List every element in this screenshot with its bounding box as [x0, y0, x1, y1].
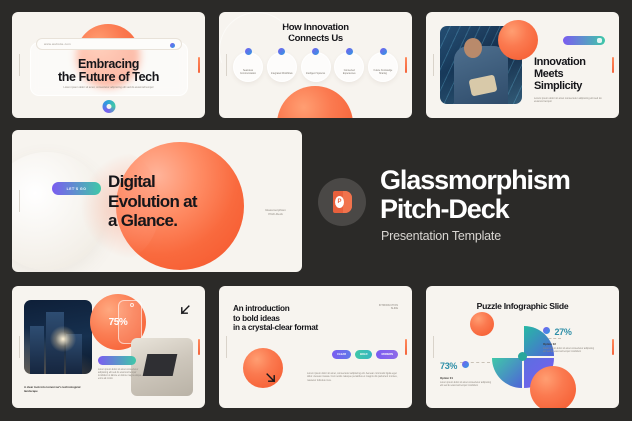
- puzzle-piece-bottom-left: [492, 358, 522, 388]
- slide-title-line1: Embracing: [78, 57, 139, 71]
- slide-edge-marker: [405, 339, 407, 355]
- slide-digital-evolution-at-a-glance[interactable]: LET'S GO Digital Evolution at a Glance. …: [12, 130, 302, 272]
- photo-office-laptop: [131, 338, 193, 396]
- tag-pill[interactable]: BOLD: [355, 350, 372, 359]
- node-dot-icon: [312, 48, 319, 55]
- tag-list: CLEAR BOLD MODERN: [332, 350, 398, 359]
- slide-innovation-meets-simplicity[interactable]: Innovation Meets Simplicity Lorem ipsum …: [426, 12, 619, 118]
- puzzle-knob: [518, 352, 527, 361]
- body-text: Lorem ipsum dolor sit amet, consectetur …: [307, 372, 398, 382]
- slide-title-line1: Digital: [108, 172, 155, 191]
- slide-kicker: INTRODUCTION SLIDE: [379, 304, 398, 311]
- slide-edge-marker: [198, 57, 200, 73]
- slide-edge-marker: [198, 339, 200, 355]
- slide-title: Embracing the Future of Tech: [12, 58, 205, 84]
- product-title-line1: Glassmorphism: [380, 165, 570, 195]
- stat-value: 73%: [440, 361, 457, 371]
- slide-corner-caption: Glassmorphism Pitch-Deck: [265, 208, 286, 216]
- slide-title: An introduction to bold ideas in a cryst…: [233, 304, 318, 333]
- slide-title-line2: Meets: [534, 68, 563, 80]
- product-tagline: Presentation Template: [381, 229, 501, 243]
- search-input[interactable]: www.website.com: [36, 38, 182, 50]
- photo-laptop: [143, 354, 178, 376]
- photo-building: [30, 326, 44, 374]
- product-title: Glassmorphism Pitch-Deck: [380, 166, 570, 224]
- slide-edge-line: [226, 54, 227, 76]
- node-dot-icon: [380, 48, 387, 55]
- tag-label: CLEAR: [337, 353, 346, 356]
- node-dot-icon: [346, 48, 353, 55]
- node-item[interactable]: Intelligent Systems: [301, 52, 331, 82]
- tag-label: MODERN: [381, 353, 393, 356]
- slide-edge-line: [433, 336, 434, 358]
- tag-pill[interactable]: MODERN: [376, 350, 398, 359]
- photo-city-buildings: [24, 300, 92, 374]
- gradient-circle-button[interactable]: [102, 100, 115, 113]
- slide-title-line2: to bold ideas: [233, 314, 280, 323]
- arrow-down-right-icon: [265, 372, 278, 385]
- node-label: Intelligent Systems: [303, 73, 328, 76]
- slide-edge-marker: [612, 57, 614, 73]
- slide-subtitle: Lorem ipsum dolor sit amet, consectetur …: [52, 86, 165, 90]
- stat-marker-icon: [543, 327, 550, 334]
- photo-caption: A clear look into tomorrow's technologic…: [24, 386, 92, 394]
- slide-title-line2: Connects Us: [288, 33, 343, 44]
- powerpoint-icon: P: [318, 178, 366, 226]
- stat-marker-icon: [130, 303, 134, 307]
- corner-caption-line2: Pitch-Deck: [265, 212, 286, 216]
- lets-go-badge[interactable]: LET'S GO: [52, 182, 101, 195]
- photo-person-head: [464, 38, 482, 58]
- stat-block: 73% Option 01 Lorem ipsum dolor sit amet…: [440, 356, 492, 388]
- slide-title-line2: Evolution at: [108, 192, 197, 211]
- slide-subtitle: Lorem ipsum dolor sit amet consectetur a…: [534, 97, 605, 104]
- slide-stat-75-percent[interactable]: 75% Lorem ipsum dolor sit amet consectet…: [12, 286, 205, 408]
- stat-block: 27% Option 02 Lorem ipsum dolor sit amet…: [543, 322, 605, 354]
- search-placeholder: www.website.com: [44, 42, 71, 46]
- slide-edge-line: [19, 54, 20, 76]
- slide-kicker-line2: SLIDE: [379, 307, 398, 310]
- node-item[interactable]: Connected Experiences: [334, 52, 364, 82]
- stat-description: Lorem ipsum dolor sit amet consectetur a…: [543, 348, 595, 354]
- stat-value: 27%: [554, 327, 571, 337]
- slide-title-line2: the Future of Tech: [58, 70, 159, 84]
- product-title-line2: Pitch-Deck: [380, 194, 509, 224]
- badge-dot-icon: [597, 38, 602, 43]
- powerpoint-logo-letter: P: [335, 196, 344, 208]
- node-item[interactable]: Future Knowledge Sharing: [368, 52, 398, 82]
- node-label: Connected Experiences: [335, 70, 363, 76]
- slide-edge-line: [226, 336, 227, 358]
- slide-title: Puzzle Infographic Slide: [426, 301, 619, 311]
- slide-title: Digital Evolution at a Glance.: [108, 172, 197, 231]
- arrow-down-left-icon: [178, 304, 191, 317]
- node-label: Future Knowledge Sharing: [369, 70, 397, 76]
- lets-go-label: LET'S GO: [67, 187, 87, 191]
- stat-marker-icon: [462, 361, 469, 368]
- category-badge[interactable]: [98, 356, 136, 365]
- slide-title-line3: in a crystal-clear format: [233, 323, 318, 332]
- status-badge[interactable]: [563, 36, 605, 45]
- orange-sphere-decoration: [530, 366, 576, 408]
- slide-edge-line: [433, 54, 434, 76]
- tag-label: BOLD: [360, 353, 367, 356]
- stat-option-label: Option 01: [440, 376, 492, 380]
- slide-edge-marker: [612, 339, 614, 355]
- slide-title-line1: How Innovation: [282, 22, 349, 33]
- photo-person-body: [454, 46, 508, 104]
- body-text: Lorem ipsum dolor sit amet consectetur a…: [98, 369, 142, 381]
- stat-description: Lorem ipsum dolor sit amet consectetur a…: [440, 382, 492, 388]
- photo-light-flare: [50, 326, 76, 352]
- slide-embracing-future-of-tech[interactable]: www.website.com Embracing the Future of …: [12, 12, 205, 118]
- slide-edge-line: [19, 190, 20, 212]
- slide-title-line1: Innovation: [534, 56, 586, 68]
- slide-how-innovation-connects-us[interactable]: How Innovation Connects Us Seamless Comm…: [219, 12, 412, 118]
- preview-canvas: www.website.com Embracing the Future of …: [0, 0, 632, 421]
- slide-edge-line: [19, 336, 20, 358]
- slide-title-line1: An introduction: [233, 304, 289, 313]
- orange-sphere-decoration: [498, 20, 538, 60]
- orange-sphere-decoration: [277, 86, 353, 118]
- slide-an-introduction-to-bold-ideas[interactable]: An introduction to bold ideas in a cryst…: [219, 286, 412, 408]
- slide-edge-marker: [405, 57, 407, 73]
- orange-sphere-decoration: [470, 312, 494, 336]
- slide-title-line3: a Glance.: [108, 211, 177, 230]
- stat-value: 75%: [109, 317, 128, 328]
- slide-title-line3: Simplicity: [534, 80, 582, 92]
- slide-title: Innovation Meets Simplicity: [534, 56, 586, 92]
- slide-puzzle-infographic[interactable]: Puzzle Infographic Slide 73% Option 01 L…: [426, 286, 619, 408]
- stat-option-label: Option 02: [543, 342, 605, 346]
- search-icon[interactable]: [170, 43, 175, 48]
- tag-pill[interactable]: CLEAR: [332, 350, 351, 359]
